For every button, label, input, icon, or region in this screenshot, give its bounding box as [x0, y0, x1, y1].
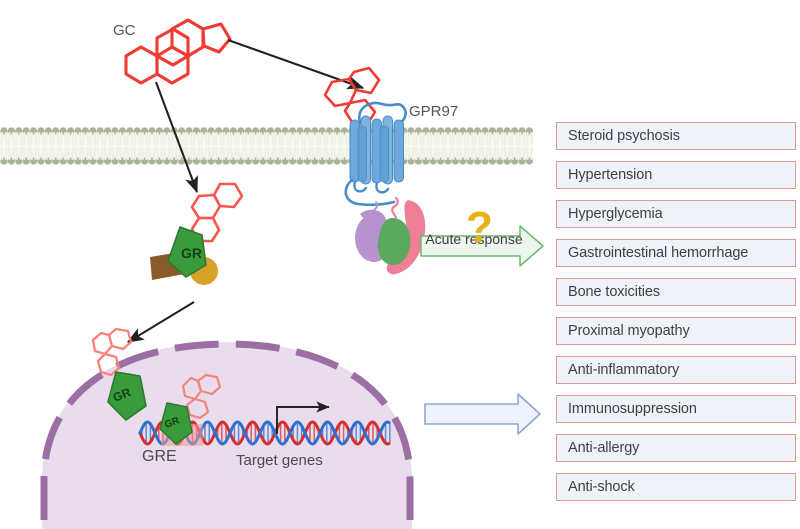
plasma-membrane: [0, 123, 530, 169]
gre-label: GRE: [142, 448, 177, 466]
outcome-box[interactable]: Anti-shock: [556, 473, 796, 501]
svg-text:GR: GR: [181, 245, 202, 261]
outcome-box[interactable]: Anti-allergy: [556, 434, 796, 462]
outcome-list: Steroid psychosisHypertensionHyperglycem…: [556, 122, 796, 512]
outcome-box[interactable]: Immunosuppression: [556, 395, 796, 423]
outcome-box[interactable]: Anti-inflammatory: [556, 356, 796, 384]
outcome-box[interactable]: Bone toxicities: [556, 278, 796, 306]
gpr97-label: GPR97: [409, 103, 458, 120]
target-genes-label: Target genes: [236, 452, 323, 469]
outcome-box[interactable]: Proximal myopathy: [556, 317, 796, 345]
outcome-box[interactable]: Hypertension: [556, 161, 796, 189]
question-mark-icon: ?: [466, 206, 493, 250]
outcome-box[interactable]: Gastrointestinal hemorrhage: [556, 239, 796, 267]
gc-steroid-molecule: [122, 12, 237, 90]
gr-receptor-complex: GR: [150, 225, 260, 295]
gr-receptor-at-gre: GR: [155, 400, 205, 448]
outcome-box[interactable]: Hyperglycemia: [556, 200, 796, 228]
genomic-response-arrow: [424, 392, 542, 436]
diagram-canvas: GC: [0, 0, 800, 529]
transcription-arrow: [275, 402, 343, 436]
outcome-box[interactable]: Steroid psychosis: [556, 122, 796, 150]
gc-label: GC: [113, 22, 136, 39]
